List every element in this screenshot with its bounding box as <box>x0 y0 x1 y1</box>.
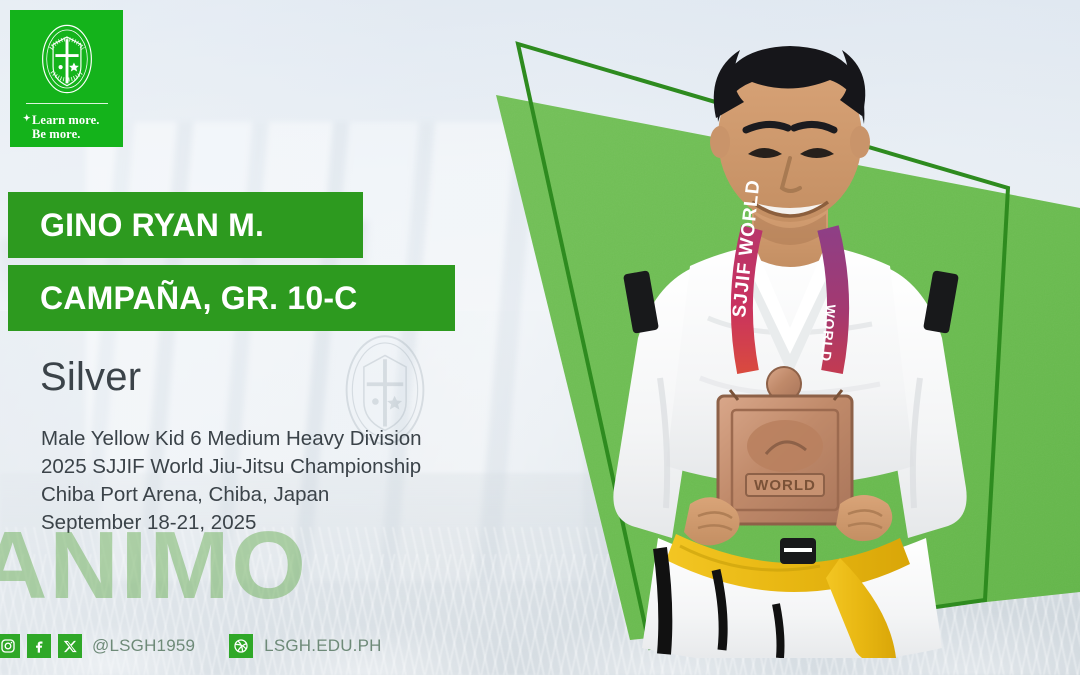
footer-social-bar: @LSGH1959 LSGH.EDU.PH <box>0 633 382 659</box>
award-detail-division: Male Yellow Kid 6 Medium Heavy Division <box>41 425 422 453</box>
instagram-icon[interactable] <box>0 634 20 658</box>
sparkle-icon: ✦ <box>23 114 31 123</box>
award-detail-venue: Chiba Port Arena, Chiba, Japan <box>41 481 422 509</box>
x-twitter-icon[interactable] <box>58 634 82 658</box>
athlete-photo: SJJIF WORLD WORLD WORLD <box>540 18 1040 658</box>
logo-tagline: ✦ Learn more. Be more. <box>10 113 123 141</box>
animo-watermark: ANIMO <box>0 518 308 614</box>
athlete-name-line1: GINO RYAN M. <box>8 207 264 244</box>
social-handle[interactable]: @LSGH1959 <box>92 636 195 656</box>
medal-title: Silver <box>40 355 141 400</box>
athlete-name-line2: CAMPAÑA, GR. 10-C <box>8 280 358 317</box>
logo-tagline-line1: Learn more. <box>32 113 123 127</box>
svg-text:WORLD: WORLD <box>754 477 816 494</box>
logo-divider <box>26 103 108 104</box>
award-detail-event: 2025 SJJIF World Jiu-Jitsu Championship <box>41 453 422 481</box>
school-logo-box[interactable]: ✦ Learn more. Be more. <box>10 10 123 147</box>
logo-tagline-line2: Be more. <box>32 127 123 141</box>
globe-icon[interactable] <box>229 634 253 658</box>
website-url[interactable]: LSGH.EDU.PH <box>264 636 381 656</box>
athlete-name-banner-line2: CAMPAÑA, GR. 10-C <box>8 265 455 331</box>
athlete-name-banner-line1: GINO RYAN M. <box>8 192 363 258</box>
poster-canvas: SJJIF WORLD WORLD WORLD <box>0 0 1080 675</box>
facebook-icon[interactable] <box>27 634 51 658</box>
la-salle-green-hills-seal-icon <box>38 23 96 95</box>
